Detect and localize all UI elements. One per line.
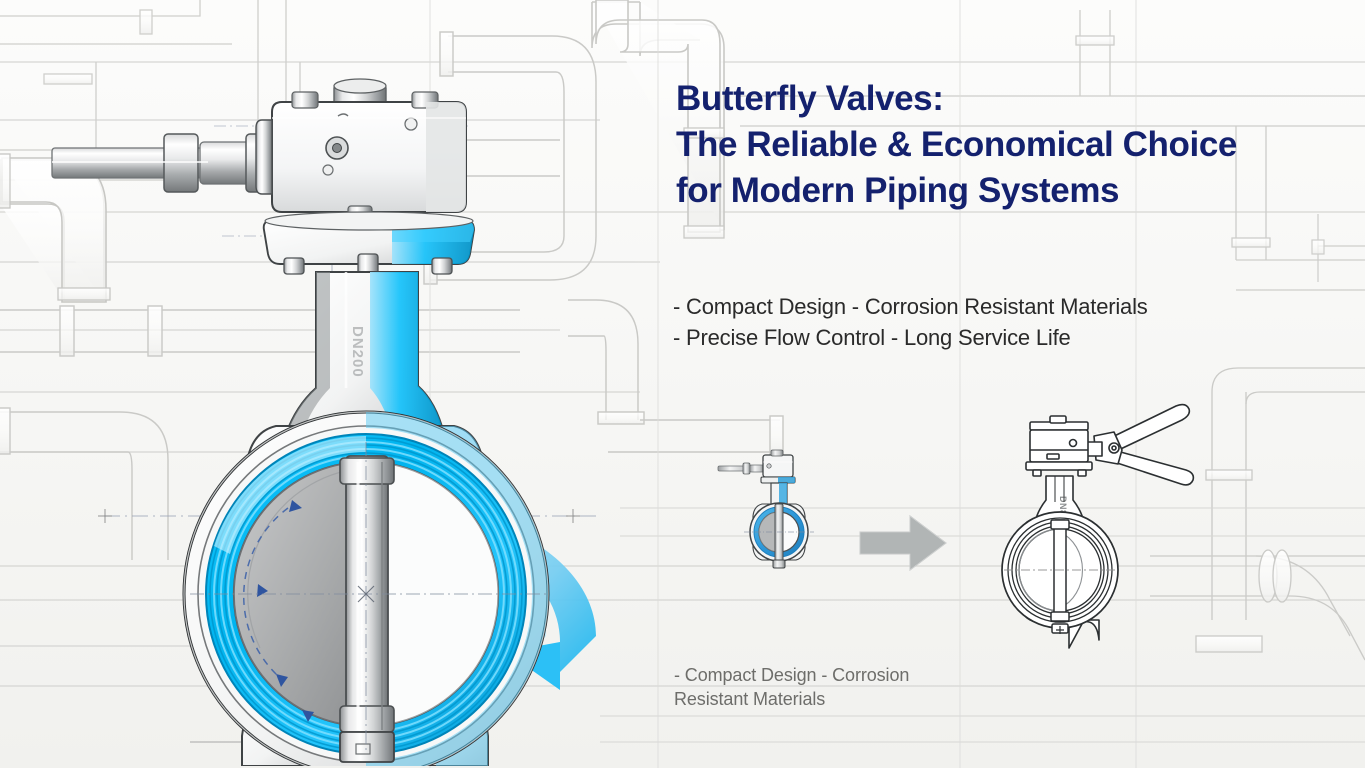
title-line-1: Butterfly Valves:	[676, 76, 1336, 122]
infographic-canvas: DN200	[0, 0, 1365, 768]
bottom-caption: - Compact Design - Corrosion Resistant M…	[674, 663, 1004, 711]
centre-stem	[340, 456, 394, 762]
wafer-body	[184, 412, 548, 766]
main-valve-illustration: DN200	[40, 76, 660, 766]
valve-neck: DN200	[286, 272, 444, 434]
neck-embossed-marking: DN200	[349, 326, 366, 378]
caption-line-2: Resistant Materials	[674, 687, 1004, 711]
cyan-elastomer-seat	[206, 434, 526, 754]
lever-valve-illustration: DN80	[990, 398, 1205, 653]
title-line-2: The Reliable & Economical Choice	[676, 122, 1336, 168]
small-valve-illustration	[716, 442, 846, 592]
feature-line-2: - Precise Flow Control - Long Service Li…	[673, 322, 1293, 353]
gearbox-actuator	[256, 79, 466, 220]
actuator-mounting-flange	[264, 212, 474, 276]
page-title: Butterfly Valves: The Reliable & Economi…	[676, 76, 1336, 214]
handwheel-input-shaft	[52, 134, 272, 192]
lug-bolt-holes	[265, 441, 467, 752]
svg-text:DN80: DN80	[1058, 496, 1068, 521]
title-line-3: for Modern Piping Systems	[676, 168, 1336, 214]
svg-text:DN200: DN200	[349, 326, 366, 378]
transition-arrow	[858, 512, 948, 574]
rotation-arc-indicator	[244, 508, 288, 676]
rotation-arrow-heads	[257, 500, 314, 722]
feature-line-1: - Compact Design - Corrosion Resistant M…	[673, 291, 1293, 322]
feature-list: - Compact Design - Corrosion Resistant M…	[673, 291, 1293, 353]
rotation-swoosh-arrow	[436, 512, 596, 690]
valve-disc	[234, 462, 498, 726]
caption-line-1: - Compact Design - Corrosion	[674, 663, 1004, 687]
